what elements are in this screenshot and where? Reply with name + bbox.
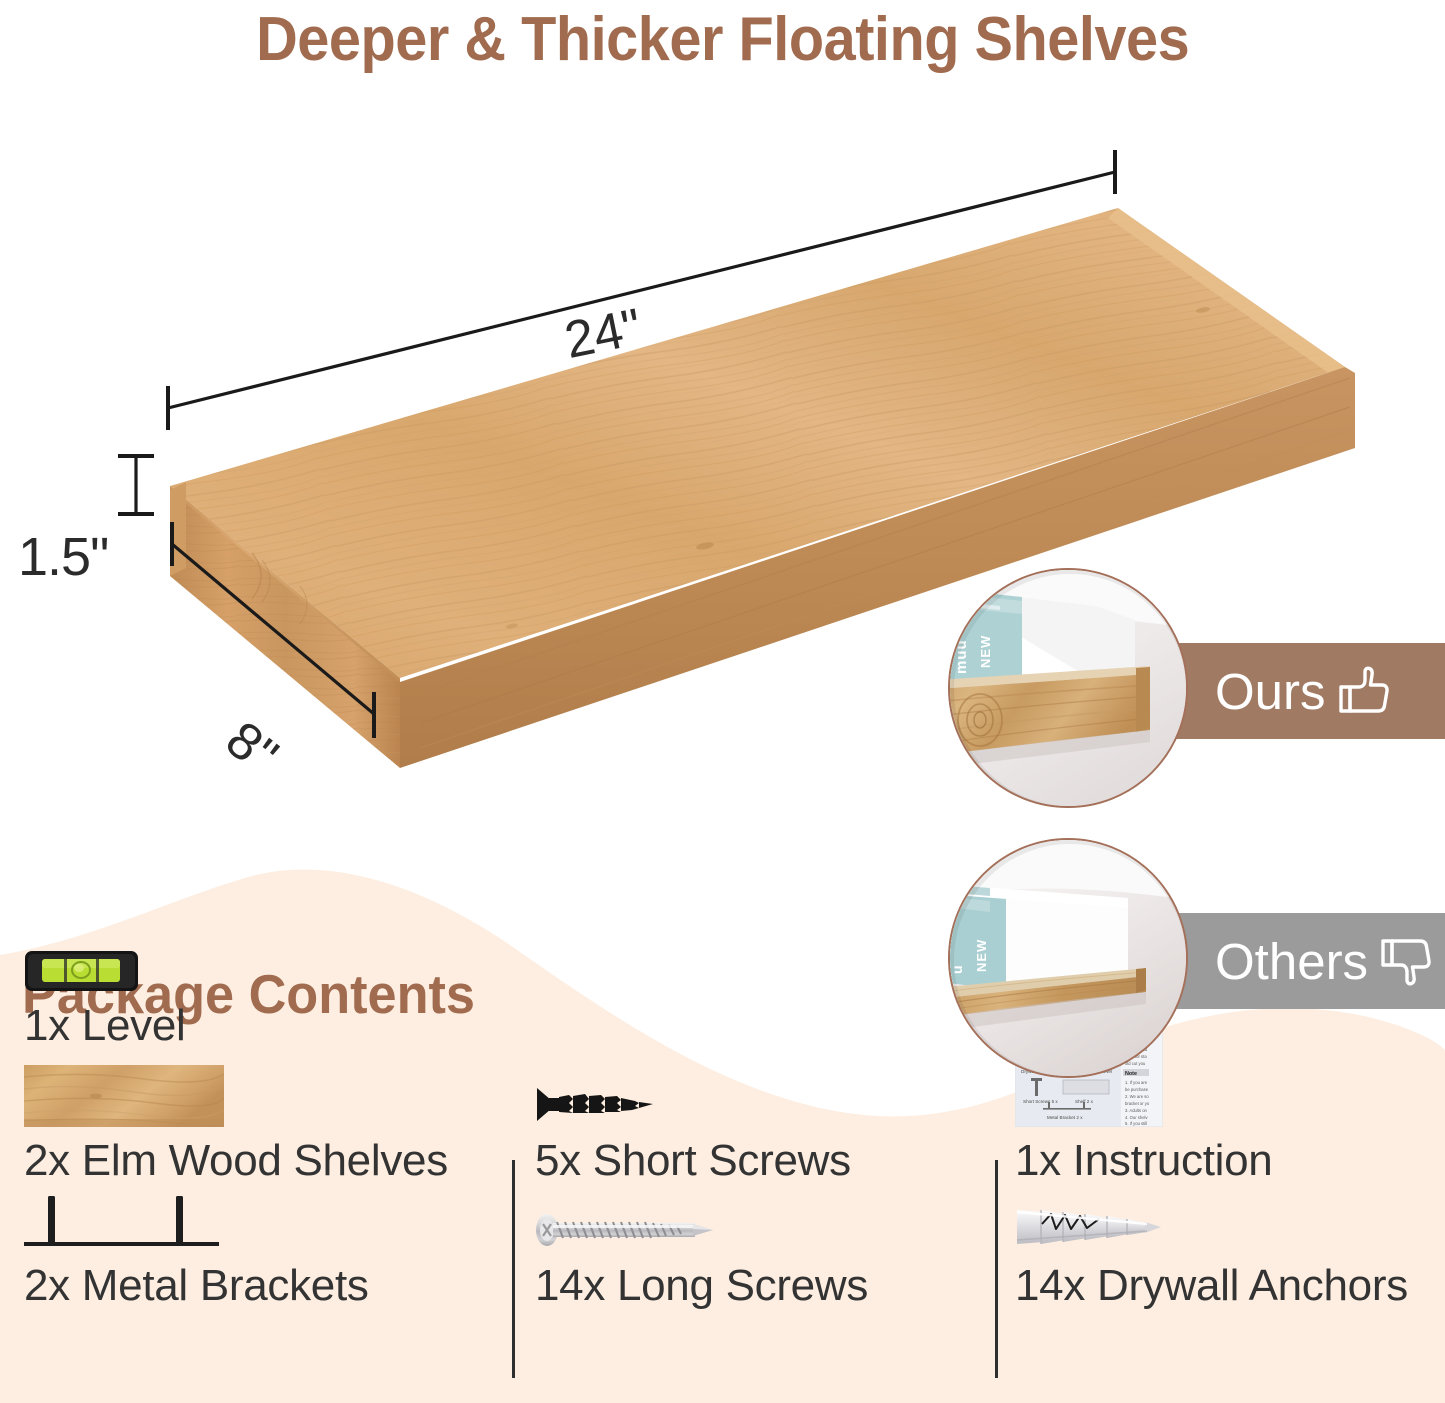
thumbs-up-icon	[1334, 665, 1390, 717]
others-label: Others	[1215, 932, 1368, 991]
svg-text:4. Our shelv: 4. Our shelv	[1125, 1115, 1148, 1120]
package-item-label: 14x Drywall Anchors	[1015, 1261, 1408, 1311]
metal-bracket-icon	[24, 1194, 219, 1257]
thumbs-down-icon	[1376, 935, 1432, 987]
svg-text:NEW: NEW	[974, 939, 989, 972]
svg-text:NEW: NEW	[978, 635, 993, 668]
package-item-label: 1x Level	[24, 1001, 185, 1051]
package-divider-2	[995, 1160, 998, 1378]
svg-text:Note: Note	[1125, 1071, 1137, 1077]
package-item-label: 1x Instruction	[1015, 1136, 1272, 1186]
bubble-level-icon	[24, 950, 139, 997]
package-divider-1	[512, 1160, 515, 1378]
svg-text:2. We are so: 2. We are so	[1125, 1094, 1149, 1099]
svg-text:Short Screws 5 x: Short Screws 5 x	[1023, 1099, 1058, 1104]
comparison-section: Ours	[930, 560, 1445, 1090]
page-title: Deeper & Thicker Floating Shelves	[256, 4, 1189, 75]
package-item-label: 2x Elm Wood Shelves	[24, 1136, 448, 1186]
ours-photo: NEW muu	[948, 568, 1188, 808]
svg-text:1. If you are: 1. If you are	[1125, 1080, 1148, 1085]
package-item-label: 2x Metal Brackets	[24, 1261, 369, 1311]
svg-text:Metal Bracket 2 x: Metal Bracket 2 x	[1047, 1115, 1083, 1120]
package-item-label: 5x Short Screws	[535, 1136, 851, 1186]
svg-text:3. Adults on: 3. Adults on	[1125, 1108, 1148, 1113]
svg-text:be purchase: be purchase	[1125, 1087, 1149, 1092]
package-item-label: 14x Long Screws	[535, 1261, 868, 1311]
svg-text:5. If you still: 5. If you still	[1125, 1121, 1147, 1126]
wood-plank-icon	[24, 1065, 224, 1132]
title-banner: Deeper & Thicker Floating Shelves	[0, 0, 1445, 78]
drywall-anchor-icon	[1015, 1202, 1163, 1257]
thickness-dimension-label: 1.5"	[18, 526, 108, 588]
comparison-row-others: Others	[930, 830, 1445, 1095]
ours-label: Ours	[1215, 662, 1326, 721]
others-photo: NEW u	[948, 838, 1188, 1078]
comparison-row-ours: Ours	[930, 560, 1445, 825]
long-screw-icon	[535, 1208, 720, 1257]
svg-text:bracket or yo: bracket or yo	[1125, 1101, 1150, 1106]
short-screw-icon	[535, 1082, 665, 1132]
